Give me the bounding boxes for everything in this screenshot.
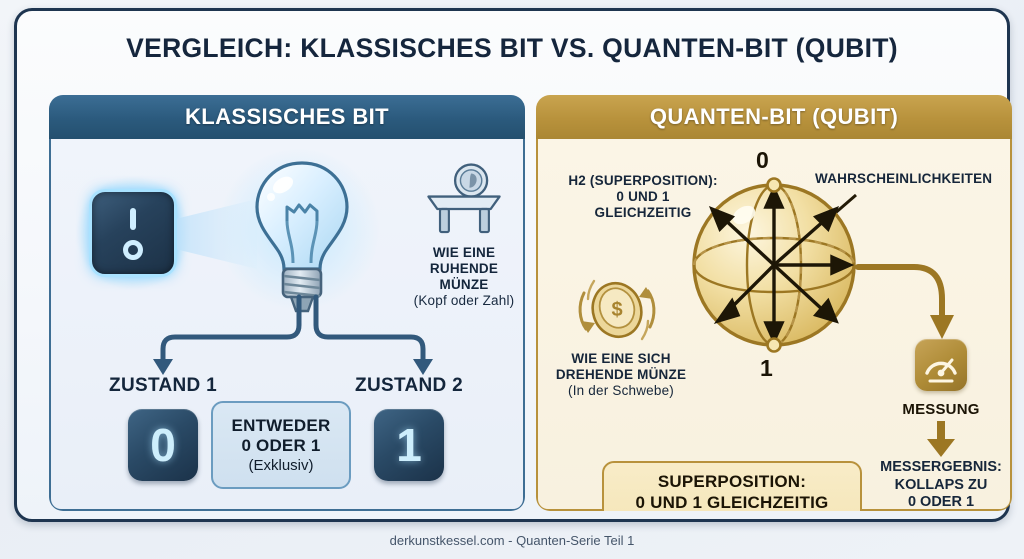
panel-quantum-header: QUANTEN-BIT (QUBIT) [536, 95, 1012, 139]
superposition-summary-box: SUPERPOSITION: 0 UND 1 GLEICHZEITIG BIS … [602, 461, 862, 511]
classic-coin-note-line2: RUHENDE MÜNZE [408, 261, 520, 293]
state-label-2: ZUSTAND 2 [339, 375, 479, 397]
panel-classic-header: KLASSISCHES BIT [49, 95, 525, 139]
switch-off-circle [123, 240, 143, 260]
either-box-line1: ENTWEDER [232, 416, 331, 436]
measurement-result-line3: 0 ODER 1 [875, 494, 1007, 511]
measurement-result-line2: KOLLAPS ZU [875, 477, 1007, 495]
coin-on-table-icon [419, 161, 509, 241]
either-box-line2: 0 ODER 1 [241, 436, 320, 456]
panel-classic-body: WIE EINE RUHENDE MÜNZE (Kopf oder Zahl) … [49, 139, 525, 511]
infographic-stage: VERGLEICH: KLASSISCHES BIT VS. QUANTEN-B… [0, 0, 1024, 559]
bloch-pole-bottom-label: 1 [760, 355, 773, 382]
state-tile-0: 0 [128, 409, 198, 481]
measurement-result-line1: MESSERGEBNIS: [875, 459, 1007, 477]
switch-on-bar [130, 208, 136, 230]
measurement-down-arrow [921, 421, 961, 459]
superposition-summary-line2: 0 UND 1 GLEICHZEITIG [636, 493, 829, 511]
classic-coin-note-line1: WIE EINE [408, 245, 520, 261]
toggle-switch-icon[interactable] [89, 189, 177, 277]
outer-card: VERGLEICH: KLASSISCHES BIT VS. QUANTEN-B… [14, 8, 1010, 522]
superposition-summary-line1: SUPERPOSITION: [658, 472, 806, 493]
collapse-arrow [856, 255, 966, 349]
either-or-box: ENTWEDER 0 ODER 1 (Exklusiv) [211, 401, 351, 489]
either-box-line3: (Exklusiv) [248, 457, 313, 474]
quantum-coin-note-line2: DREHENDE MÜNZE [546, 367, 696, 383]
svg-text:$: $ [611, 299, 622, 321]
light-bulb-icon [247, 159, 357, 319]
gauge-glyph [915, 339, 967, 391]
quantum-coin-note: WIE EINE SICH DREHENDE MÜNZE (In der Sch… [546, 351, 696, 400]
measurement-label: MESSUNG [885, 401, 997, 418]
bloch-sphere-icon [684, 175, 864, 355]
spinning-coin-icon: $ [568, 271, 666, 349]
state-label-1: ZUSTAND 1 [93, 375, 233, 397]
page-title: VERGLEICH: KLASSISCHES BIT VS. QUANTEN-B… [17, 33, 1007, 64]
panel-quantum-bit: QUANTEN-BIT (QUBIT) H2 (SUPERPOSITION): … [536, 95, 1012, 511]
measurement-result: MESSERGEBNIS: KOLLAPS ZU 0 ODER 1 [875, 459, 1007, 511]
panel-quantum-body: H2 (SUPERPOSITION): 0 UND 1 GLEICHZEITIG… [536, 139, 1012, 511]
state-tile-1: 1 [374, 409, 444, 481]
footer-credit: derkunstkessel.com - Quanten-Serie Teil … [0, 533, 1024, 548]
bloch-pole-top-label: 0 [756, 147, 769, 174]
panel-classic-bit: KLASSISCHES BIT [49, 95, 525, 511]
quantum-coin-note-line1: WIE EINE SICH [546, 351, 696, 367]
gauge-icon [915, 339, 967, 391]
quantum-coin-note-line3: (In der Schwebe) [546, 383, 696, 399]
branch-connector [111, 297, 471, 377]
